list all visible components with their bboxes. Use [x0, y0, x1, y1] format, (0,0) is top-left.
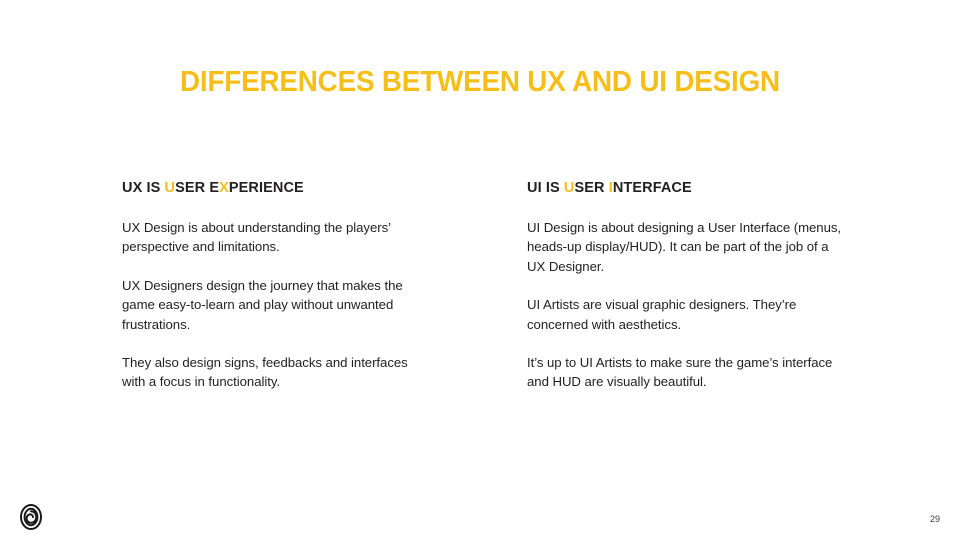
heading-highlight-u: U: [165, 180, 176, 196]
heading-middle: SER E: [175, 180, 219, 196]
slide-canvas: DIFFERENCES BETWEEN UX AND UI DESIGN UX …: [0, 0, 960, 540]
ubisoft-swirl-logo-icon: [20, 504, 42, 530]
column-ui-heading: UI IS USER INTERFACE: [527, 178, 847, 198]
heading-highlight-u: U: [564, 180, 575, 196]
column-ui: UI IS USER INTERFACE UI Design is about …: [527, 178, 847, 392]
column-ux-heading: UX IS USER EXPERIENCE: [122, 178, 422, 198]
heading-prefix: UI IS: [527, 180, 564, 196]
column-ui-paragraph-1: UI Design is about designing a User Inte…: [527, 218, 847, 276]
page-title: DIFFERENCES BETWEEN UX AND UI DESIGN: [19, 65, 941, 99]
content-columns: UX IS USER EXPERIENCE UX Design is about…: [0, 178, 960, 408]
heading-suffix: PERIENCE: [229, 180, 304, 196]
heading-prefix: UX IS: [122, 180, 165, 196]
column-ux-paragraph-2: UX Designers design the journey that mak…: [122, 276, 422, 334]
heading-suffix: NTERFACE: [613, 180, 692, 196]
column-ux: UX IS USER EXPERIENCE UX Design is about…: [122, 178, 422, 392]
page-number: 29: [910, 513, 940, 525]
column-ux-paragraph-1: UX Design is about understanding the pla…: [122, 218, 422, 257]
column-ui-paragraph-3: It’s up to UI Artists to make sure the g…: [527, 353, 847, 392]
heading-highlight-x: X: [219, 180, 229, 196]
heading-middle: SER: [574, 180, 608, 196]
column-ui-paragraph-2: UI Artists are visual graphic designers.…: [527, 295, 847, 334]
column-ux-paragraph-3: They also design signs, feedbacks and in…: [122, 353, 422, 392]
